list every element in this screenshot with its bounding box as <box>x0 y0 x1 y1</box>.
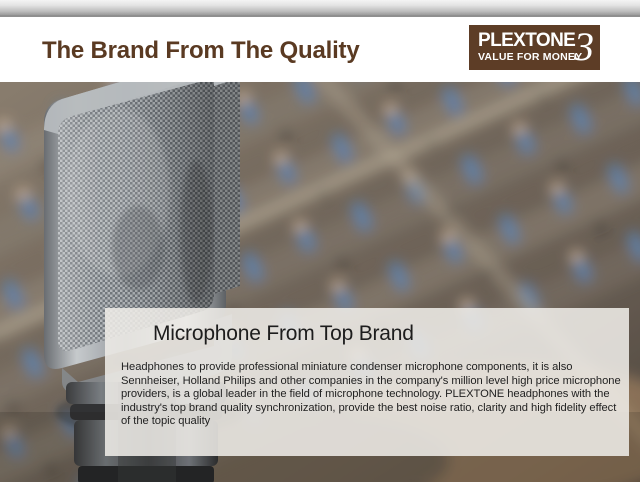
caption-body-text: Headphones to provide professional minia… <box>121 361 621 429</box>
slide-canvas: The Brand From The Quality PLEXTONE 3 VA… <box>0 0 640 482</box>
slide-header: The Brand From The Quality PLEXTONE 3 VA… <box>0 17 640 82</box>
logo-tagline: VALUE FOR MONEY <box>478 52 582 63</box>
plextone-logo: PLEXTONE 3 VALUE FOR MONEY <box>469 25 600 70</box>
caption-panel: Microphone From Top Brand Headphones to … <box>105 308 629 456</box>
logo-wordmark: PLEXTONE <box>478 31 575 50</box>
caption-heading: Microphone From Top Brand <box>153 322 414 346</box>
page-title: The Brand From The Quality <box>42 37 360 65</box>
window-chrome-bar <box>0 0 640 15</box>
